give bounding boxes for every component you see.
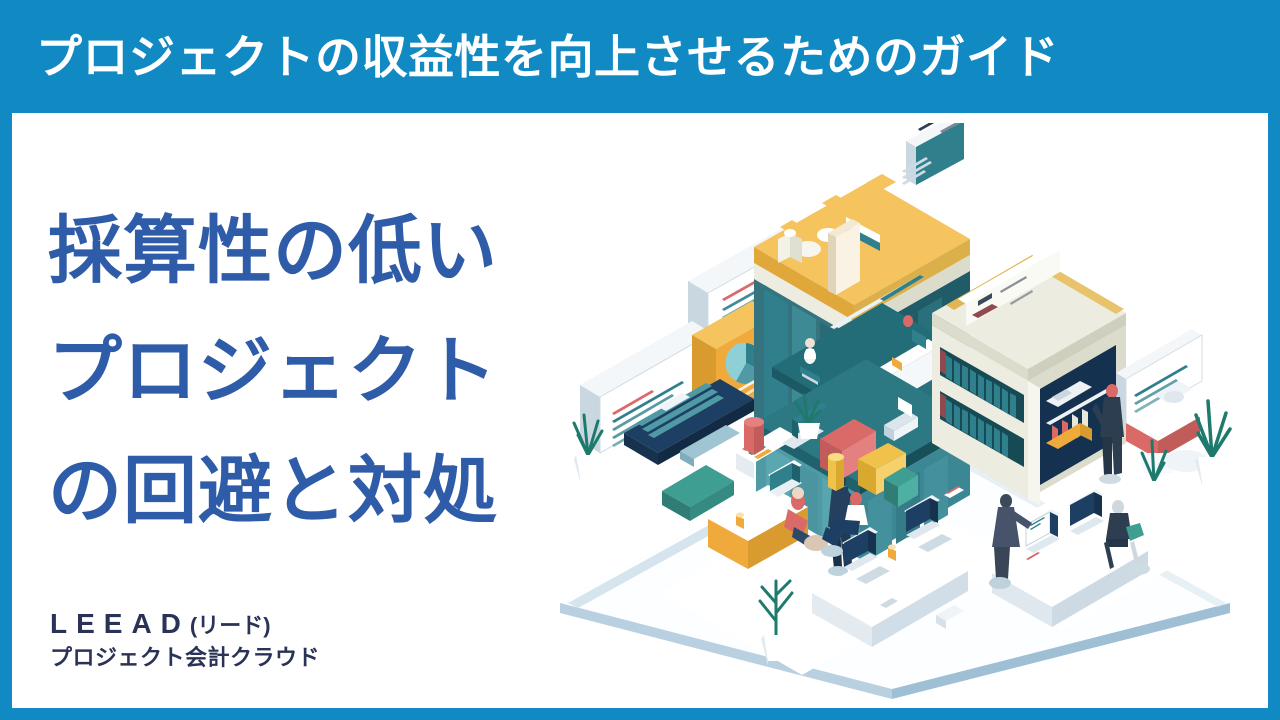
bottle	[828, 453, 844, 491]
headline-line-3: の回避と対処	[48, 431, 568, 551]
logo-wordmark: LEEAD(リード)	[50, 607, 320, 643]
floating-card-top	[902, 123, 964, 185]
headline-line-2: プロジェクト	[48, 311, 568, 431]
brand-logo: LEEAD(リード) プロジェクト会計クラウド	[50, 607, 320, 673]
logo-reading: (リード)	[190, 613, 271, 638]
headline-block: 採算性の低い プロジェクト の回避と対処	[48, 191, 568, 551]
isometric-office-illustration	[540, 123, 1268, 703]
logo-tagline: プロジェクト会計クラウド	[50, 643, 320, 673]
content-card: 採算性の低い プロジェクト の回避と対処 LEEAD(リード) プロジェクト会計…	[12, 113, 1268, 708]
header-banner: プロジェクトの収益性を向上させるためのガイド	[0, 0, 1280, 113]
logo-letters: LEEAD	[50, 608, 190, 639]
slide-root: プロジェクトの収益性を向上させるためのガイド 採算性の低い プロジェクト の回避…	[0, 0, 1280, 720]
canister	[744, 417, 764, 455]
plant-right	[1195, 401, 1230, 485]
header-title: プロジェクトの収益性を向上させるためのガイド	[36, 34, 1059, 80]
headline-line-1: 採算性の低い	[48, 191, 568, 311]
floating-folder	[828, 219, 860, 295]
